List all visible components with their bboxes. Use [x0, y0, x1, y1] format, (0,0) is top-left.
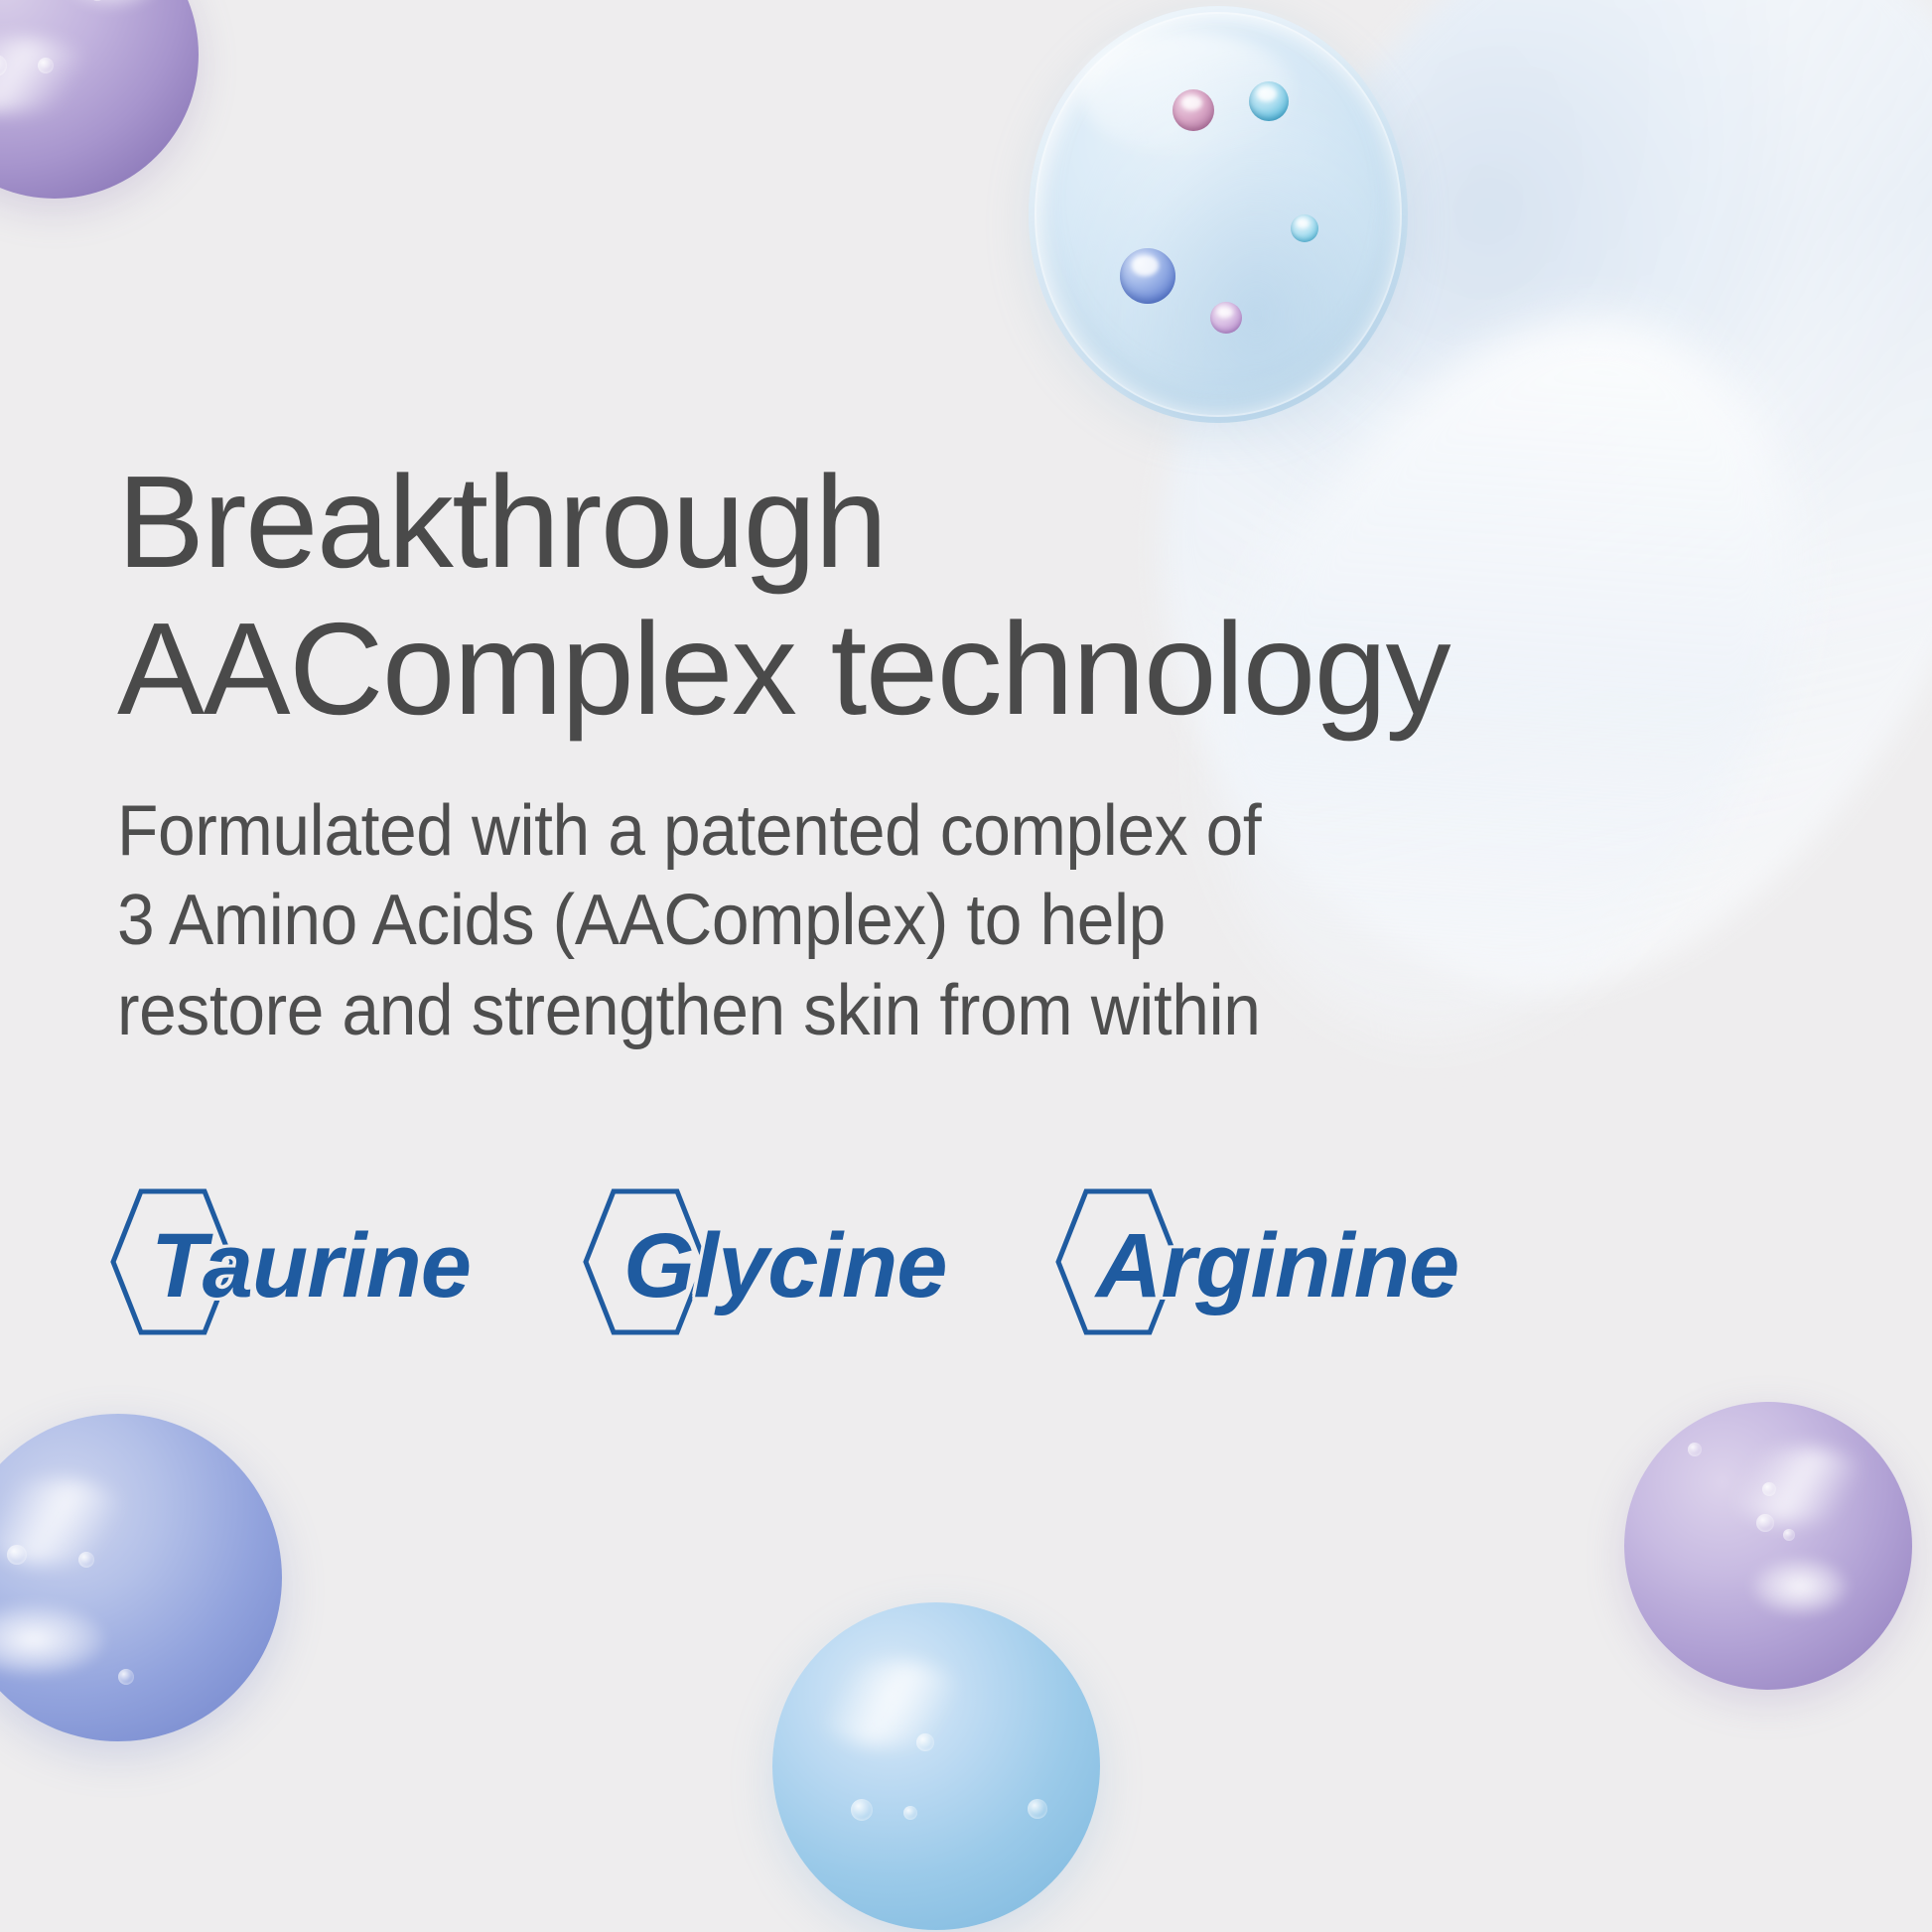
- droplet-bubble: [1756, 1514, 1774, 1532]
- product-hero-canvas: Breakthrough AAComplex technology Formul…: [0, 0, 1932, 1932]
- amino-acid-badge-row: Taurine Glycine Arginine: [107, 1172, 1835, 1360]
- droplet-highlight: [0, 38, 100, 112]
- blue-inner-droplet: [1120, 248, 1175, 304]
- cyan-small-inner-droplet: [1291, 214, 1318, 242]
- droplet-bubble: [1783, 1529, 1795, 1541]
- droplet-bubble: [78, 1552, 94, 1568]
- droplet-bubble: [916, 1733, 934, 1751]
- bubble-inner-shade: [1059, 48, 1378, 389]
- lilac-inner-droplet: [1210, 302, 1242, 334]
- pink-inner-droplet: [1173, 89, 1214, 131]
- droplet-bubble: [0, 55, 7, 76]
- droplet-highlight: [1751, 1558, 1850, 1615]
- cyan-inner-droplet: [1249, 81, 1289, 121]
- droplet-bubble: [7, 1545, 27, 1565]
- droplet-highlight: [812, 1661, 969, 1746]
- droplet-bubble: [851, 1799, 873, 1821]
- droplet-highlight: [1723, 1448, 1872, 1522]
- badge-taurine[interactable]: Taurine: [107, 1172, 471, 1360]
- droplet-bubble: [1028, 1799, 1047, 1819]
- droplet-bubble: [1762, 1482, 1776, 1496]
- lavender-droplet-bottom-right: [1624, 1402, 1912, 1690]
- droplet-highlight: [0, 1479, 131, 1565]
- purple-droplet-top-left: [0, 0, 199, 199]
- droplet-bubble: [1688, 1443, 1702, 1456]
- droplet-highlight: [0, 1603, 105, 1676]
- bubble-gloss-highlight: [1081, 31, 1294, 156]
- droplet-bubble: [118, 1669, 134, 1685]
- badge-arginine[interactable]: Arginine: [1052, 1172, 1458, 1360]
- badge-glycine[interactable]: Glycine: [580, 1172, 946, 1360]
- page-title: Breakthrough AAComplex technology: [117, 449, 1765, 743]
- badge-label: Arginine: [1096, 1220, 1458, 1311]
- badge-label: Taurine: [151, 1220, 471, 1311]
- badge-label: Glycine: [623, 1220, 946, 1311]
- aacomplex-bubble: [1029, 6, 1408, 423]
- copy-block: Breakthrough AAComplex technology Formul…: [117, 449, 1765, 1056]
- droplet-bubble: [38, 58, 54, 73]
- bubble-rim: [1035, 12, 1402, 417]
- droplet-bubble: [89, 0, 105, 1]
- subheadline-description: Formulated with a patented complex of 3 …: [117, 786, 1666, 1056]
- periwinkle-droplet-bottom-left: [0, 1414, 282, 1741]
- droplet-bubble: [903, 1806, 917, 1820]
- blue-droplet-bottom-center: [772, 1602, 1100, 1930]
- droplet-highlight: [61, 0, 164, 9]
